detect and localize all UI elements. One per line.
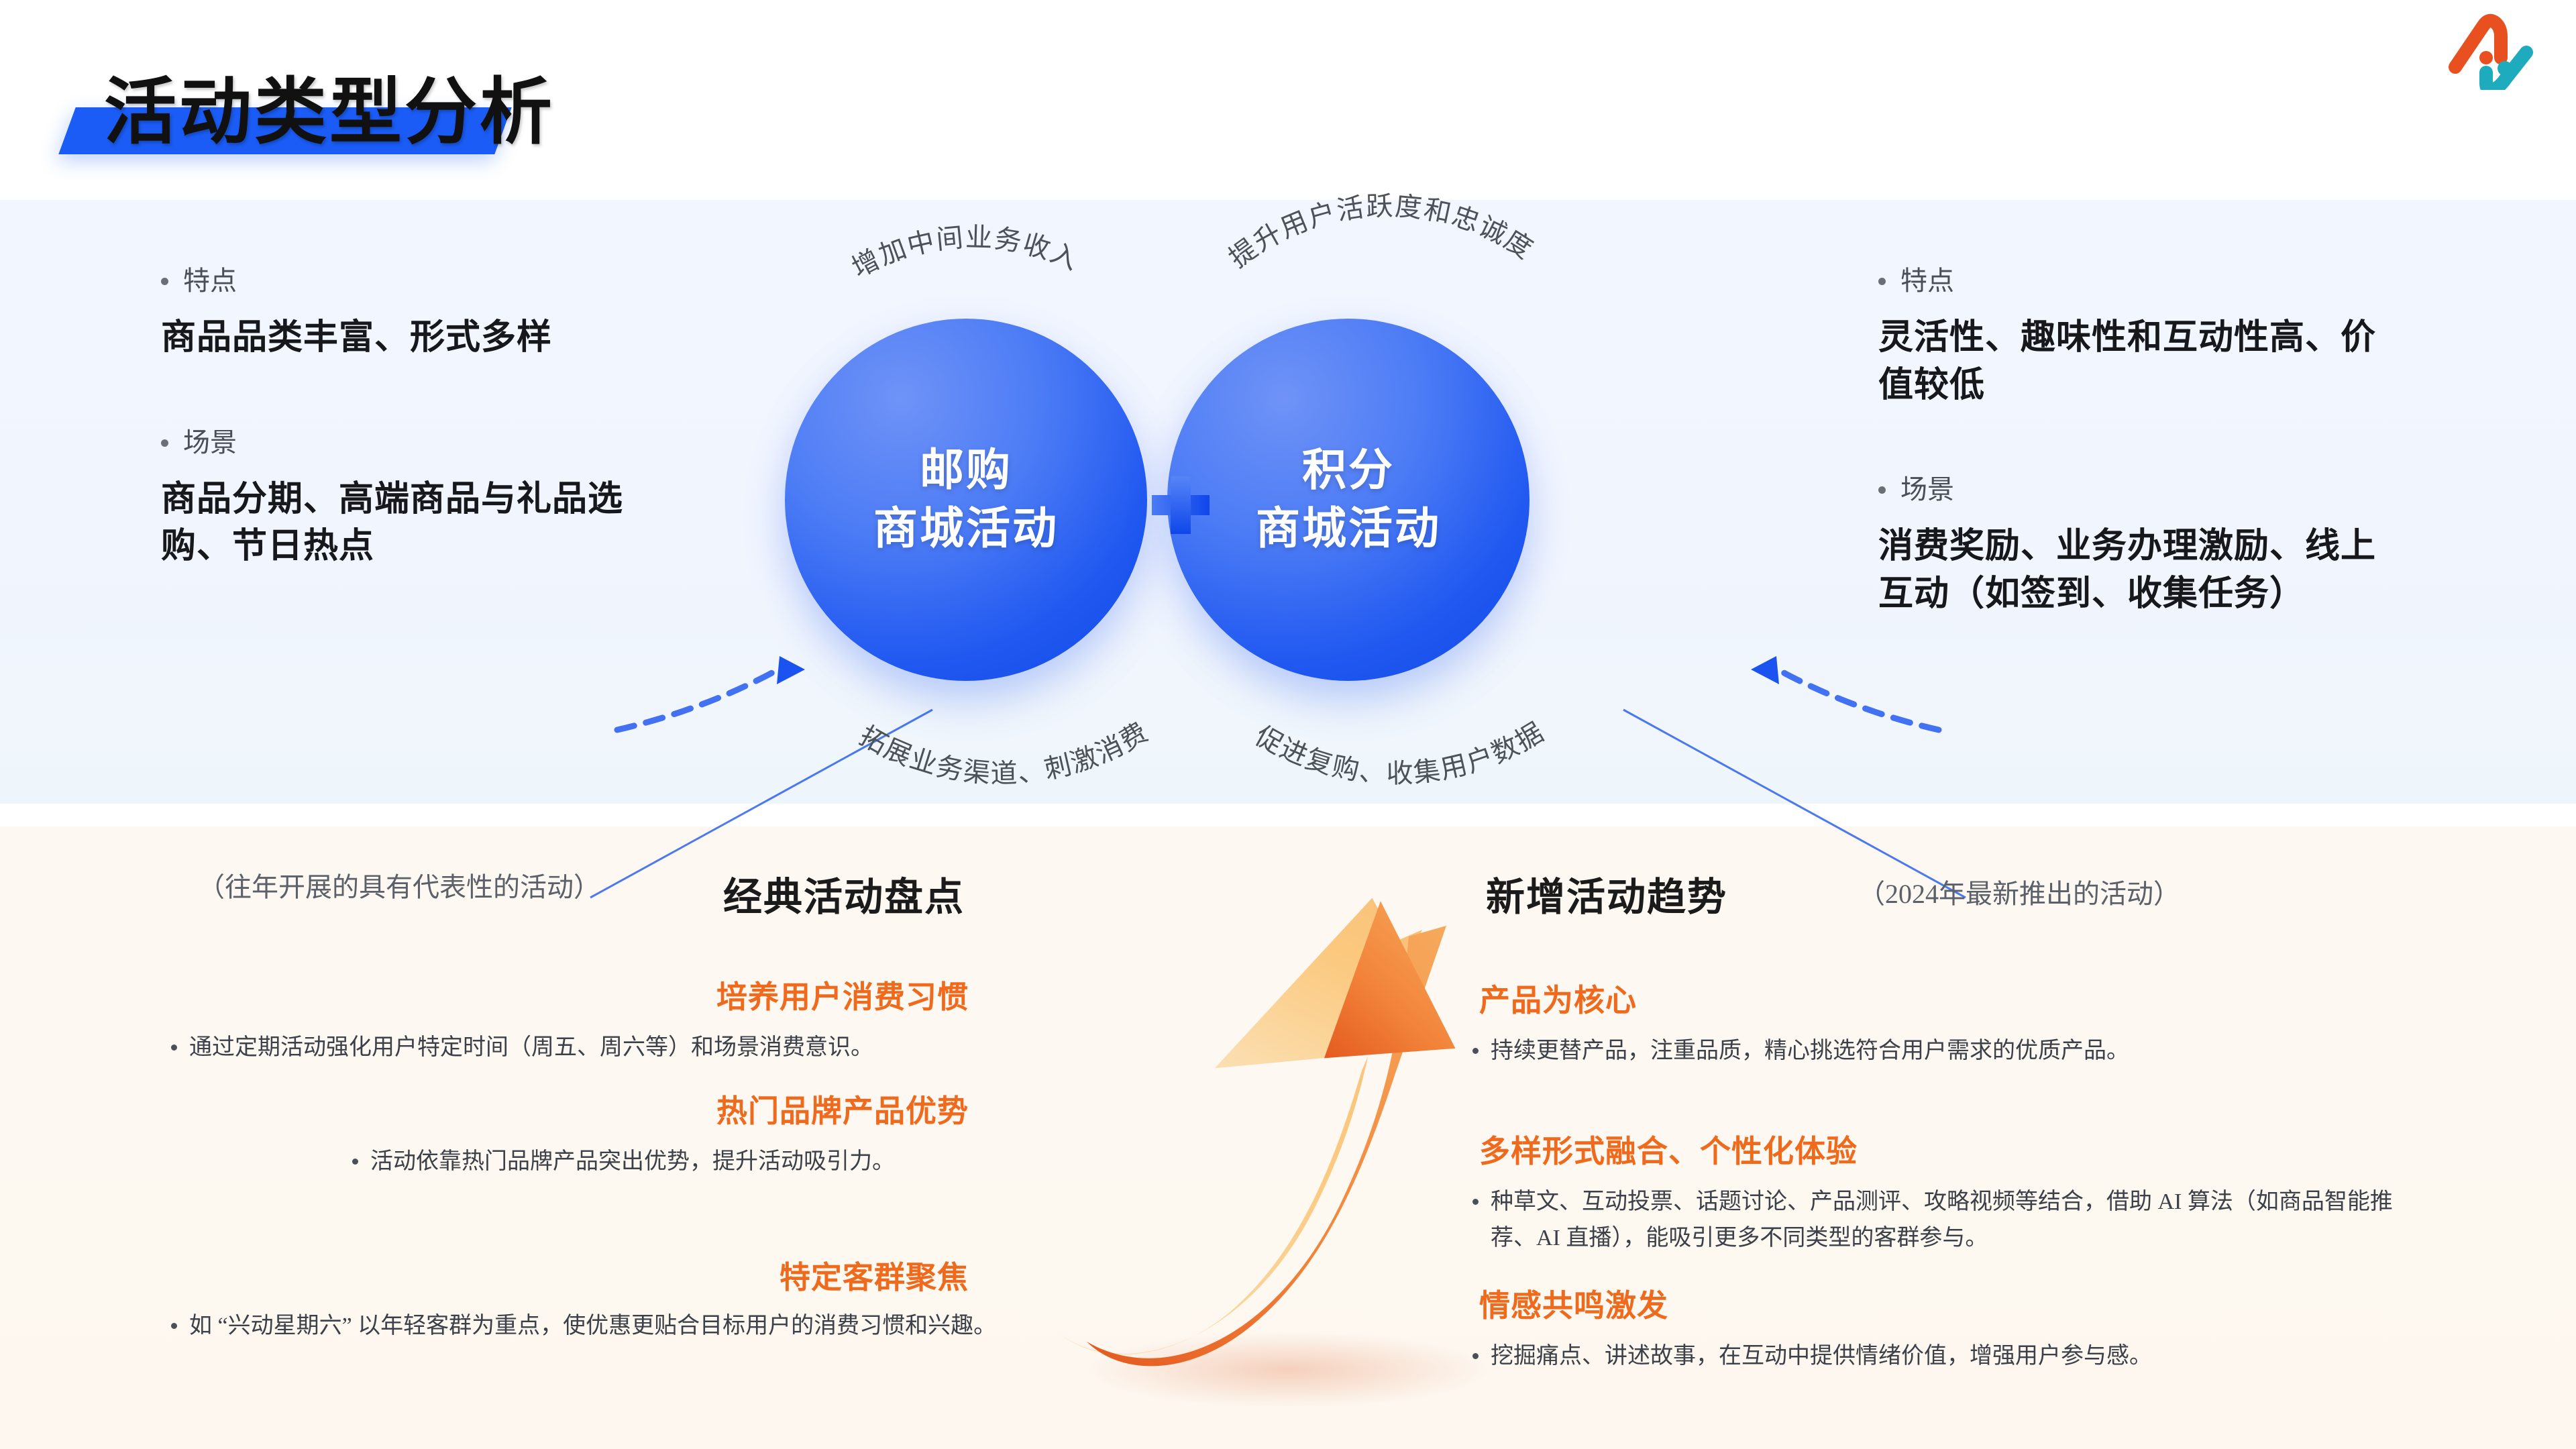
classic-item-1-body-row: 活动依靠热门品牌产品突出优势，提升活动吸引力。: [352, 1144, 1097, 1180]
classic-item-0-title: 培养用户消费习惯: [716, 973, 969, 1017]
left-feature-label-row: 特点: [161, 265, 671, 297]
growth-arrow-icon: [1046, 872, 1543, 1429]
classic-heading: 经典活动盘点: [723, 865, 965, 922]
right-feature-text: 灵活性、趣味性和互动性高、价值较低: [1878, 315, 2388, 409]
bullet-dot-icon: [161, 439, 168, 447]
right-scene-label: 场景: [1900, 474, 1954, 506]
new-item-2-title: 情感共鸣激发: [1479, 1281, 1668, 1326]
classic-item-1-title: 热门品牌产品优势: [716, 1087, 969, 1131]
circle-right-line1: 积分: [1256, 441, 1441, 500]
page-title: 活动类型分析: [104, 54, 555, 158]
new-item-0-body-row: 持续更替产品，注重品质，精心挑选符合用户需求的优质产品。: [1472, 1033, 2432, 1069]
svg-text:促进复购、收集用户数据: 促进复购、收集用户数据: [1250, 716, 1550, 789]
left-scene-label: 场景: [183, 427, 237, 459]
left-feature-text: 商品品类丰富、形式多样: [161, 315, 671, 362]
circle-mail-order-mall[interactable]: 邮购 商城活动: [785, 319, 1147, 681]
new-item-0-title: 产品为核心: [1479, 976, 1637, 1020]
new-item-0-body: 持续更替产品，注重品质，精心挑选符合用户需求的优质产品。: [1491, 1033, 2129, 1069]
new-item-2-body-row: 挖掘痛点、讲述故事，在互动中提供情绪价值，增强用户参与感。: [1472, 1338, 2432, 1375]
right-arc-bottom-text: 促进复购、收集用户数据: [1250, 716, 1550, 789]
left-arc-bottom-text: 拓展业务渠道、刺激消费: [855, 716, 1154, 789]
right-scene-text: 消费奖励、业务办理激励、线上互动（如签到、收集任务）: [1878, 523, 2388, 618]
right-feature-column: 特点 灵活性、趣味性和互动性高、价值较低 场景 消费奖励、业务办理激励、线上互动…: [1878, 265, 2388, 619]
right-feature-label-row: 特点: [1878, 265, 2388, 297]
spacer: [161, 362, 671, 427]
bullet-dot-icon: [1472, 1048, 1479, 1054]
bullet-dot-icon: [171, 1044, 177, 1051]
new-heading: 新增活动趋势: [1486, 865, 1727, 922]
left-feature-label: 特点: [183, 265, 237, 297]
left-arc-top-text: 增加中间业务收入: [847, 222, 1084, 283]
header: 活动类型分析: [0, 0, 2576, 201]
bullet-dot-icon: [1878, 486, 1886, 494]
classic-item-0-body-row: 通过定期活动强化用户特定时间（周五、周六等）和场景消费意识。: [171, 1030, 1097, 1066]
bullet-dot-icon: [161, 278, 168, 285]
new-item-1-body: 种草文、互动投票、话题讨论、产品测评、攻略视频等结合，借助 AI 算法（如商品智…: [1491, 1184, 2425, 1257]
bullet-dot-icon: [352, 1159, 358, 1165]
circle-left-line2: 商城活动: [873, 500, 1059, 558]
bullet-dot-icon: [1472, 1199, 1479, 1205]
classic-item-2-body: 如 “兴动星期六” 以年轻客群为重点，使优惠更贴合目标用户的消费习惯和兴趣。: [189, 1308, 996, 1344]
circle-left-line1: 邮购: [873, 441, 1059, 500]
new-item-1-title: 多样形式融合、个性化体验: [1479, 1127, 1858, 1171]
bullet-dot-icon: [1878, 278, 1886, 285]
plus-icon-vertical: [1171, 476, 1191, 534]
right-scene-label-row: 场景: [1878, 474, 2388, 506]
new-item-2-body: 挖掘痛点、讲述故事，在互动中提供情绪价值，增强用户参与感。: [1491, 1338, 2152, 1375]
plus-icon: [1152, 476, 1210, 534]
spacer: [1878, 409, 2388, 474]
left-scene-text: 商品分期、高端商品与礼品选购、节日热点: [161, 476, 671, 571]
bullet-dot-icon: [171, 1323, 177, 1329]
venn-diagram: 增加中间业务收入 提升用户活跃度和忠诚度 拓展业务渠道、刺激消费 促进复购、收集…: [738, 221, 1811, 798]
bullet-dot-icon: [1472, 1353, 1479, 1359]
classic-item-1-body: 活动依靠热门品牌产品突出优势，提升活动吸引力。: [370, 1144, 895, 1180]
svg-text:拓展业务渠道、刺激消费: 拓展业务渠道、刺激消费: [855, 716, 1154, 789]
brand-av-logo-icon: [2445, 8, 2544, 90]
left-feature-column: 特点 商品品类丰富、形式多样 场景 商品分期、高端商品与礼品选购、节日热点: [161, 265, 671, 571]
svg-text:增加中间业务收入: 增加中间业务收入: [847, 222, 1084, 283]
circle-right-line2: 商城活动: [1256, 500, 1441, 558]
left-scene-label-row: 场景: [161, 427, 671, 459]
classic-note: （往年开展的具有代表性的活动）: [198, 865, 600, 904]
new-note: （2024年最新推出的活动）: [1858, 872, 2180, 911]
classic-item-0-body: 通过定期活动强化用户特定时间（周五、周六等）和场景消费意识。: [189, 1030, 873, 1066]
right-feature-label: 特点: [1900, 265, 1954, 297]
classic-item-2-title: 特定客群聚焦: [780, 1253, 969, 1297]
classic-item-2-body-row: 如 “兴动星期六” 以年轻客群为重点，使优惠更贴合目标用户的消费习惯和兴趣。: [171, 1308, 1104, 1344]
new-item-1-body-row: 种草文、互动投票、话题讨论、产品测评、攻略视频等结合，借助 AI 算法（如商品智…: [1472, 1184, 2425, 1257]
circle-points-mall[interactable]: 积分 商城活动: [1167, 319, 1529, 681]
